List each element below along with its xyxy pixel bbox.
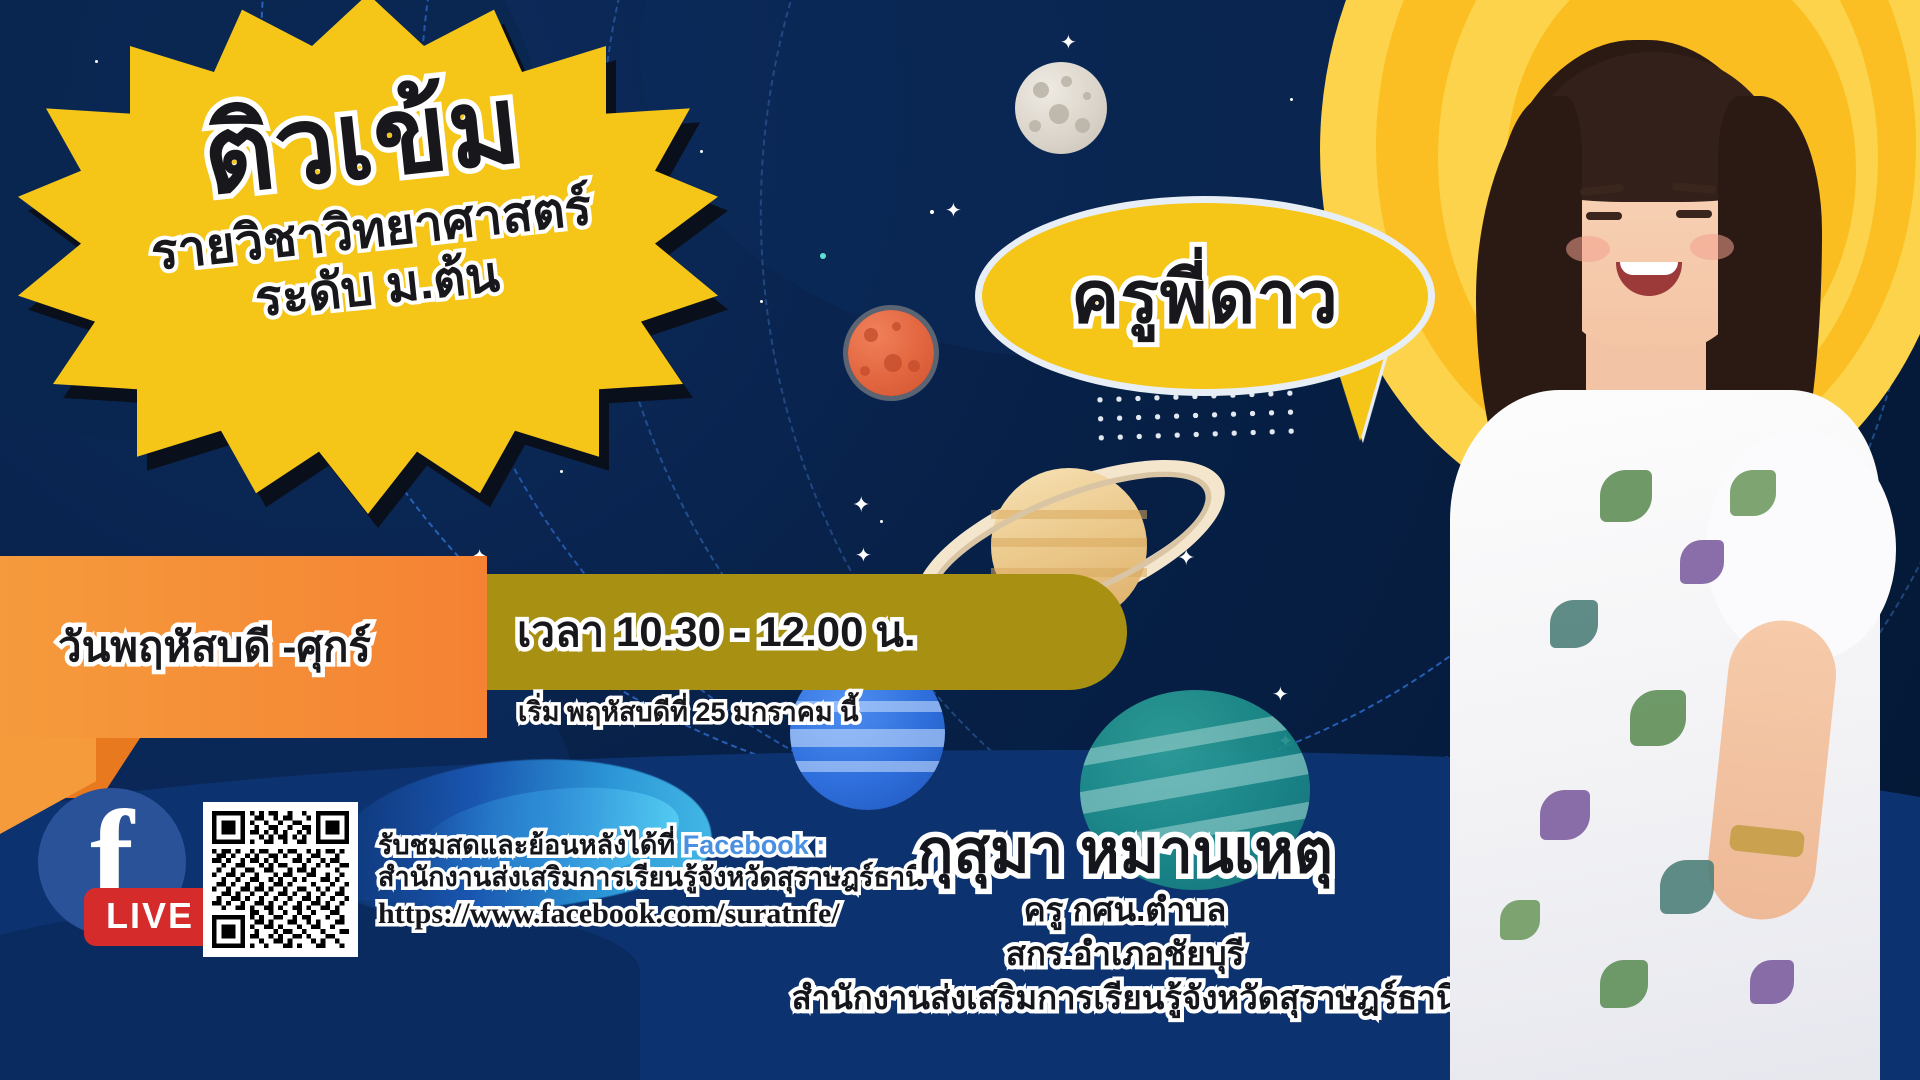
starburst-badge: ติวเข้ม รายวิชาวิทยาศาสตร์ ระดับ ม.ต้น xyxy=(18,0,718,514)
presenter-cheek xyxy=(1566,236,1610,262)
star-icon xyxy=(1290,98,1293,101)
dress-floral-pattern xyxy=(1540,790,1590,840)
moon-icon xyxy=(1015,62,1107,154)
schedule-days-bar: วันพฤหัสบดี -ศุกร์ xyxy=(0,556,487,738)
star-icon: ✦ xyxy=(945,200,962,220)
dress-floral-pattern xyxy=(1500,900,1540,940)
star-icon xyxy=(930,210,934,214)
watch-prefix: รับชมสดและย้อนหลังได้ที่ xyxy=(378,830,675,860)
presenter-cheek xyxy=(1690,234,1734,260)
presenter-photo xyxy=(1300,0,1920,1080)
live-badge: LIVE xyxy=(84,888,216,946)
star-icon: ✦ xyxy=(1272,684,1289,704)
star-icon xyxy=(880,520,883,523)
presenter-eye xyxy=(1676,210,1712,218)
qr-code-image xyxy=(212,811,349,948)
dress-floral-pattern xyxy=(1750,960,1794,1004)
mars-planet-icon xyxy=(848,310,934,396)
poster-canvas: ✦ ✦ ✦ ✦ ✦ ✦ ✦ ✦ ✦ ✦ ✦ xyxy=(0,0,1920,1080)
presenter-eye xyxy=(1586,212,1622,220)
dress-floral-pattern xyxy=(1730,470,1776,516)
dress-floral-pattern xyxy=(1630,690,1686,746)
dress-floral-pattern xyxy=(1680,540,1724,584)
qr-code[interactable] xyxy=(203,802,358,957)
dress-floral-pattern xyxy=(1600,960,1648,1008)
schedule-start-note: เริ่ม พฤหัสบดีที่ 25 มกราคม นี้ xyxy=(518,690,859,733)
star-icon: ✦ xyxy=(852,495,870,517)
dress-floral-pattern xyxy=(1550,600,1598,648)
dress-floral-pattern xyxy=(1600,470,1652,522)
star-icon xyxy=(760,300,763,303)
schedule-time-bar: เวลา 10.30 - 12.00 น. xyxy=(487,574,1127,690)
schedule-days-label: วันพฤหัสบดี -ศุกร์ xyxy=(0,556,487,738)
dress-floral-pattern xyxy=(1660,860,1714,914)
schedule-time-label: เวลา 10.30 - 12.00 น. xyxy=(487,574,1127,690)
star-icon: ✦ xyxy=(1060,32,1077,52)
star-icon xyxy=(820,253,826,259)
star-icon: ✦ xyxy=(855,545,872,565)
